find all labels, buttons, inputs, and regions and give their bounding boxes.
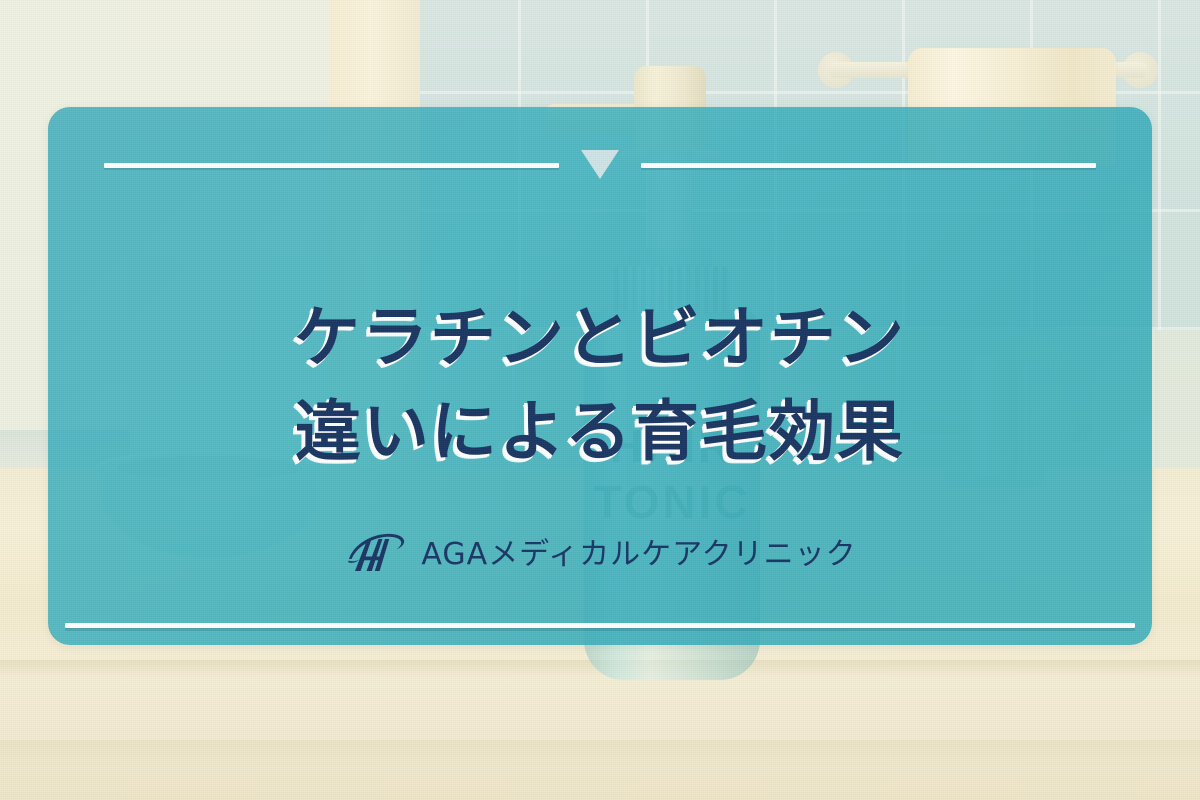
page-title: ケラチンとビオチン 違いによる育毛効果 [48, 291, 1152, 478]
brand-logo: AGAメディカルケアクリニック [48, 527, 1152, 575]
brand-logo-text: AGAメディカルケアクリニック [421, 529, 856, 573]
divider-rule-left [104, 163, 559, 168]
banner-canvas: HAIR TONIC ケラチンとビオチン 違いによる育毛効果 [0, 0, 1200, 800]
divider-rule-right [641, 163, 1096, 168]
bottom-divider [48, 623, 1152, 628]
triangle-down-icon [581, 150, 619, 179]
aga-monogram-icon [343, 527, 407, 575]
top-divider [48, 147, 1152, 183]
teal-overlay-panel: ケラチンとビオチン 違いによる育毛効果 [48, 107, 1152, 645]
page-title-line-1: ケラチンとビオチン [48, 291, 1152, 385]
page-title-line-2: 違いによる育毛効果 [48, 385, 1152, 479]
divider-rule-bottom [65, 623, 1135, 628]
counter-edge-lower [0, 740, 1200, 770]
